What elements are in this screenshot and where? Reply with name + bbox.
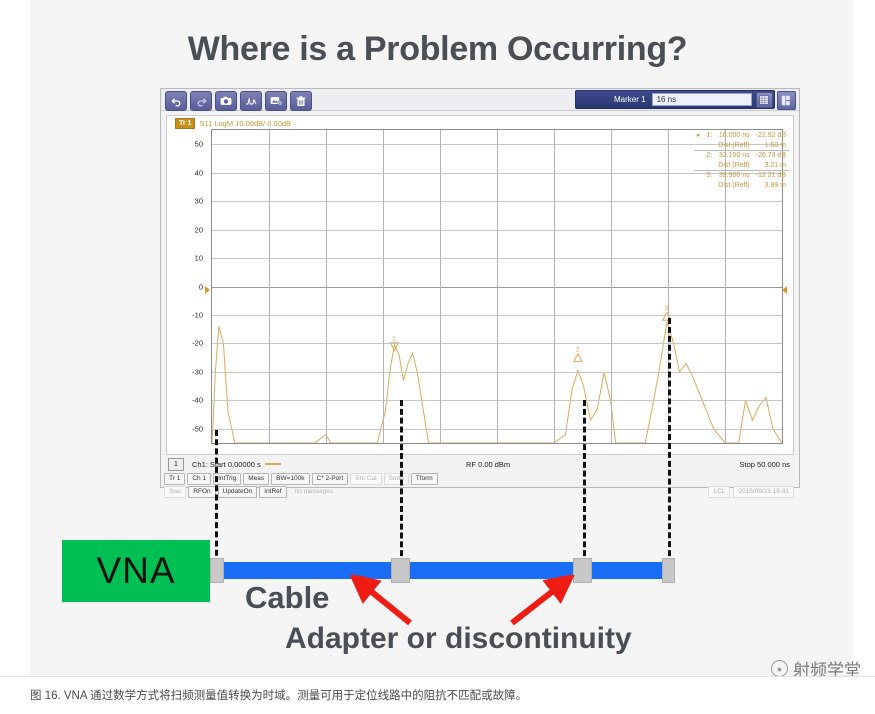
caption-strip: 图 16. VNA 通过数学方式将扫频测量值转换为时域。测量可用于定位线路中的阻… [0, 676, 875, 714]
timestamp: 2015/09/23 16:41 [733, 486, 794, 498]
connector-end [662, 558, 675, 583]
gridline-vertical [554, 130, 555, 443]
y-tick-label: 50 [195, 140, 203, 149]
marker-cell [694, 171, 704, 181]
y-tick-label: 0 [199, 282, 203, 291]
channel-stop-label: Stop 50.000 ns [740, 460, 790, 469]
y-tick-label: -50 [192, 424, 203, 433]
slide-right-margin [853, 0, 875, 676]
channel-start-label: Ch1: Start 0.00000 s [192, 460, 281, 469]
gridline-vertical [383, 130, 384, 443]
marker-cell [694, 161, 704, 171]
marker-cell [703, 141, 715, 151]
gridline-vertical [440, 130, 441, 443]
marker-value-input[interactable]: 16 ns [652, 93, 752, 106]
marker-readout-row: ▸1:16.000 ns-22.92 dB [694, 131, 789, 141]
trace-marker-2[interactable]: 2 [574, 348, 582, 362]
marker-cell [694, 181, 704, 191]
marker-distance-row: Dist (Reff)3.21 m [694, 161, 789, 171]
y-tick-label: -20 [192, 339, 203, 348]
marker-cell: 3: [703, 171, 715, 181]
dropline-adapter-1 [400, 400, 403, 565]
reference-marker-left [205, 286, 210, 294]
figure-caption: 图 16. VNA 通过数学方式将扫频测量值转换为时域。测量可用于定位线路中的阻… [30, 687, 527, 703]
save-image-icon[interactable] [265, 91, 287, 111]
gridline-vertical [269, 130, 270, 443]
marker-cell: Dist (Reff) [715, 161, 752, 171]
marker-cell: 1: [703, 131, 715, 141]
redo-icon[interactable] [190, 91, 212, 111]
marker-cell: 16.000 ns [715, 131, 752, 141]
y-tick-label: -30 [192, 367, 203, 376]
status-key-ch-1[interactable]: Ch 1 [187, 473, 211, 485]
channel-status-bar: 1 Ch1: Start 0.00000 s RF 0.00 dBm Stop … [166, 457, 794, 471]
dropline-adapter-2 [583, 400, 586, 565]
status-key-tr-1[interactable]: Tr 1 [164, 473, 185, 485]
dropline-end [668, 318, 671, 565]
status-key-swc[interactable]: Swc [164, 486, 186, 498]
gridline-vertical [611, 130, 612, 443]
status-key-bw-100k[interactable]: BW=100k [271, 473, 309, 485]
marker-cell [694, 151, 704, 161]
adapter-label: Adapter or discontinuity [285, 622, 632, 656]
page-title: Where is a Problem Occurring? [0, 30, 875, 69]
local-mode-indicator: LCL [708, 486, 730, 498]
y-tick-label: 10 [195, 254, 203, 263]
marker-cell: -22.92 dB [753, 131, 789, 141]
marker-cell: 2: [703, 151, 715, 161]
y-tick-label: 40 [195, 168, 203, 177]
status-message: no messages [289, 487, 338, 497]
status-key-tform[interactable]: Tform [411, 473, 438, 485]
marker-cell [703, 181, 715, 191]
keypad-icon[interactable] [756, 92, 773, 108]
cable-label: Cable [245, 580, 329, 616]
y-tick-label: -40 [192, 396, 203, 405]
y-tick-label: 30 [195, 197, 203, 206]
gridline-vertical [326, 130, 327, 443]
marker-label: Marker 1 [614, 95, 646, 104]
status-key-smth[interactable]: Smth [384, 473, 409, 485]
svg-text:1: 1 [392, 337, 396, 343]
status-key-intref[interactable]: IntRef [259, 486, 286, 498]
marker-cell: ▸ [694, 131, 704, 141]
marker-cell [703, 161, 715, 171]
marker-cell: -12.21 dB [753, 171, 789, 181]
rf-power-label: RF 0.00 dBm [466, 460, 510, 469]
trace-color-swatch [265, 463, 281, 465]
arrow-to-adapter-1 [362, 584, 410, 623]
channel-start-text: Ch1: Start 0.00000 s [192, 460, 261, 469]
plot-area: Tr 1 S11 LogM 10.00dB/ 0.00dB 5040302010… [166, 115, 794, 455]
status-key-c-2-port[interactable]: C* 2-Port [312, 473, 349, 485]
undo-icon[interactable] [165, 91, 187, 111]
slide: Where is a Problem Occurring? [0, 0, 875, 676]
toolbar-icon-group [165, 91, 312, 111]
vna-label: VNA [96, 550, 175, 592]
marker-cell: 32.100 ns [715, 151, 752, 161]
y-axis-labels: 50403020100-10-20-30-40-50 [167, 129, 207, 444]
y-tick-label: -10 [192, 310, 203, 319]
vna-instrument-window: Marker 1 16 ns Tr 1 S11 LogM 10.00dB/ 0.… [160, 88, 800, 488]
vna-device-box: VNA [62, 540, 210, 602]
marker-cell [694, 141, 704, 151]
marker-readout-table: ▸1:16.000 ns-22.92 dBDist (Reff)1.60 m2:… [694, 131, 789, 190]
watermark-logo-icon: ● [771, 660, 788, 677]
trace-badge: Tr 1 [175, 118, 195, 129]
marker-entry-panel: Marker 1 16 ns [575, 90, 775, 109]
trace-label: Tr 1 S11 LogM 10.00dB/ 0.00dB [175, 118, 291, 129]
marker-readout-row: 3:39.900 ns-12.21 dB [694, 171, 789, 181]
marker-cell: 39.900 ns [715, 171, 752, 181]
status-key-rfon[interactable]: RFOn [188, 486, 215, 498]
status-key-meas[interactable]: Meas [243, 473, 269, 485]
channel-number-badge[interactable]: 1 [168, 458, 184, 471]
slide-left-margin [0, 0, 30, 676]
status-right-group: LCL2015/09/23 16:41 [708, 486, 794, 498]
marker-distance-row: Dist (Reff)1.60 m [694, 141, 789, 151]
marker-cell: Dist (Reff) [715, 141, 752, 151]
trash-icon[interactable] [290, 91, 312, 111]
marker-cell: Dist (Reff) [715, 181, 752, 191]
trace-format-label: S11 LogM 10.00dB/ 0.00dB [199, 119, 291, 128]
waveform-marker-icon[interactable] [240, 91, 262, 111]
marker-readout-row: 2:32.100 ns-26.73 dB [694, 151, 789, 161]
status-key-src-cal[interactable]: Src Cal [350, 473, 381, 485]
marker-cell: -26.73 dB [753, 151, 789, 161]
y-tick-label: 20 [195, 225, 203, 234]
status-key-updateon[interactable]: UpdateOn [218, 486, 258, 498]
camera-icon[interactable] [215, 91, 237, 111]
marker-cell: 1.60 m [753, 141, 789, 151]
layout-grid-icon[interactable] [777, 91, 796, 110]
status-row-1: Tr 1Ch 1IntTrigMeasBW=100kC* 2-PortSrc C… [164, 473, 796, 485]
vna-toolbar: Marker 1 16 ns [161, 89, 799, 111]
svg-text:2: 2 [576, 348, 580, 354]
marker-distance-row: Dist (Reff)3.99 m [694, 181, 789, 191]
gridline-vertical [497, 130, 498, 443]
status-row-2: SwcRFOnUpdateOnIntRefno messagesLCL2015/… [164, 486, 796, 498]
marker-cell: 3.21 m [753, 161, 789, 171]
arrow-to-adapter-2 [512, 584, 562, 623]
dropline-port [215, 430, 218, 565]
marker-cell: 3.99 m [753, 181, 789, 191]
connector-port [210, 558, 224, 583]
